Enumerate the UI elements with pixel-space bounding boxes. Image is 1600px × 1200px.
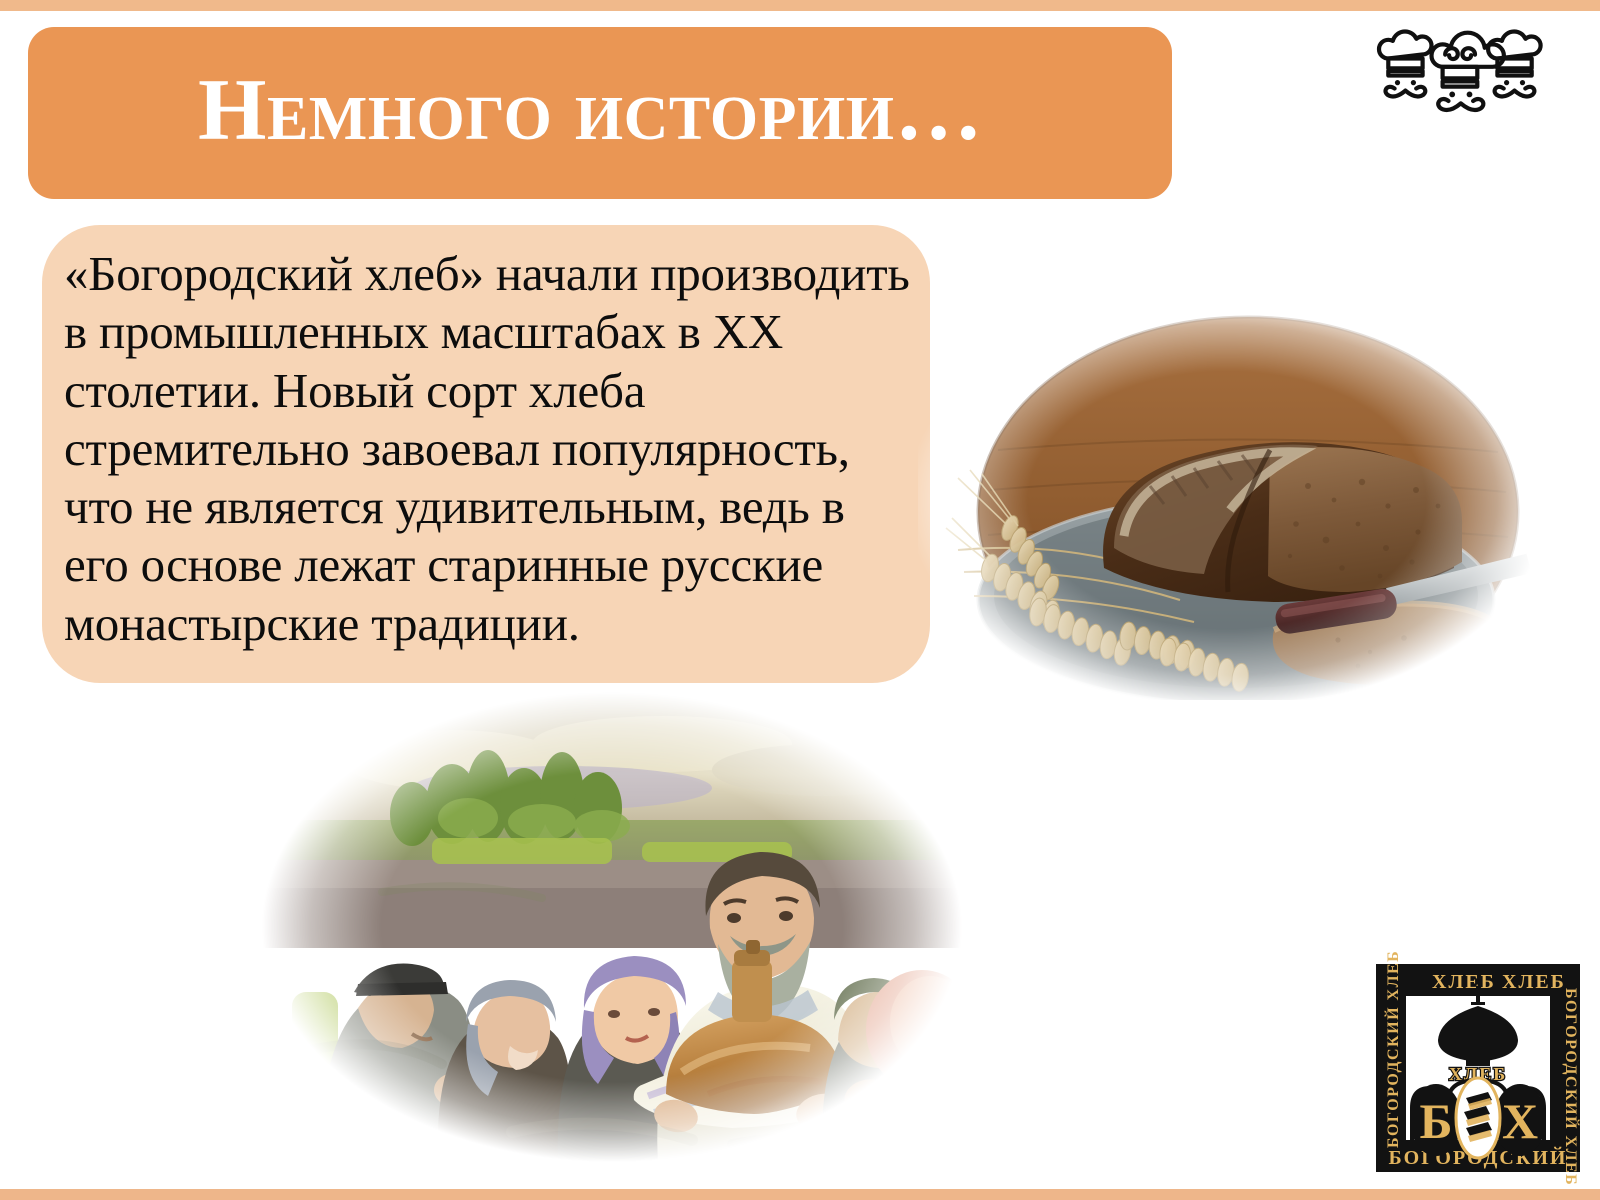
top-accent-band [0,0,1600,11]
body-text-panel: «Богородский хлеб» начали производить в … [42,225,930,683]
rye-bread-photo [918,300,1536,700]
logo-word-top-left: ХЛЕБ [1432,971,1496,993]
logo-word-top-right: ХЛЕБ [1502,971,1566,993]
logo-monogram-b: Б [1419,1093,1452,1149]
logo-word-right: БОГОРОДСКИЙ ХЛЕБ [1562,988,1581,1184]
body-paragraph: «Богородский хлеб» начали производить в … [64,245,912,653]
page-title: Немного истории… [198,67,983,155]
bogorodsky-khleb-logo: ХЛЕБ ХЛЕБ БОГОРОДСКИЙ БОГОРОДСКИЙ ХЛЕБ Б… [1366,952,1590,1184]
bread-and-salt-painting [262,692,962,1162]
bottom-accent-band [0,1189,1600,1200]
three-chef-hats-icon [1372,22,1548,118]
logo-word-left: БОГОРОДСКИЙ ХЛЕБ [1383,952,1402,1148]
slide: Немного истории… [0,0,1600,1200]
title-banner: Немного истории… [28,27,1172,199]
logo-monogram-h: Х [1502,1093,1538,1149]
